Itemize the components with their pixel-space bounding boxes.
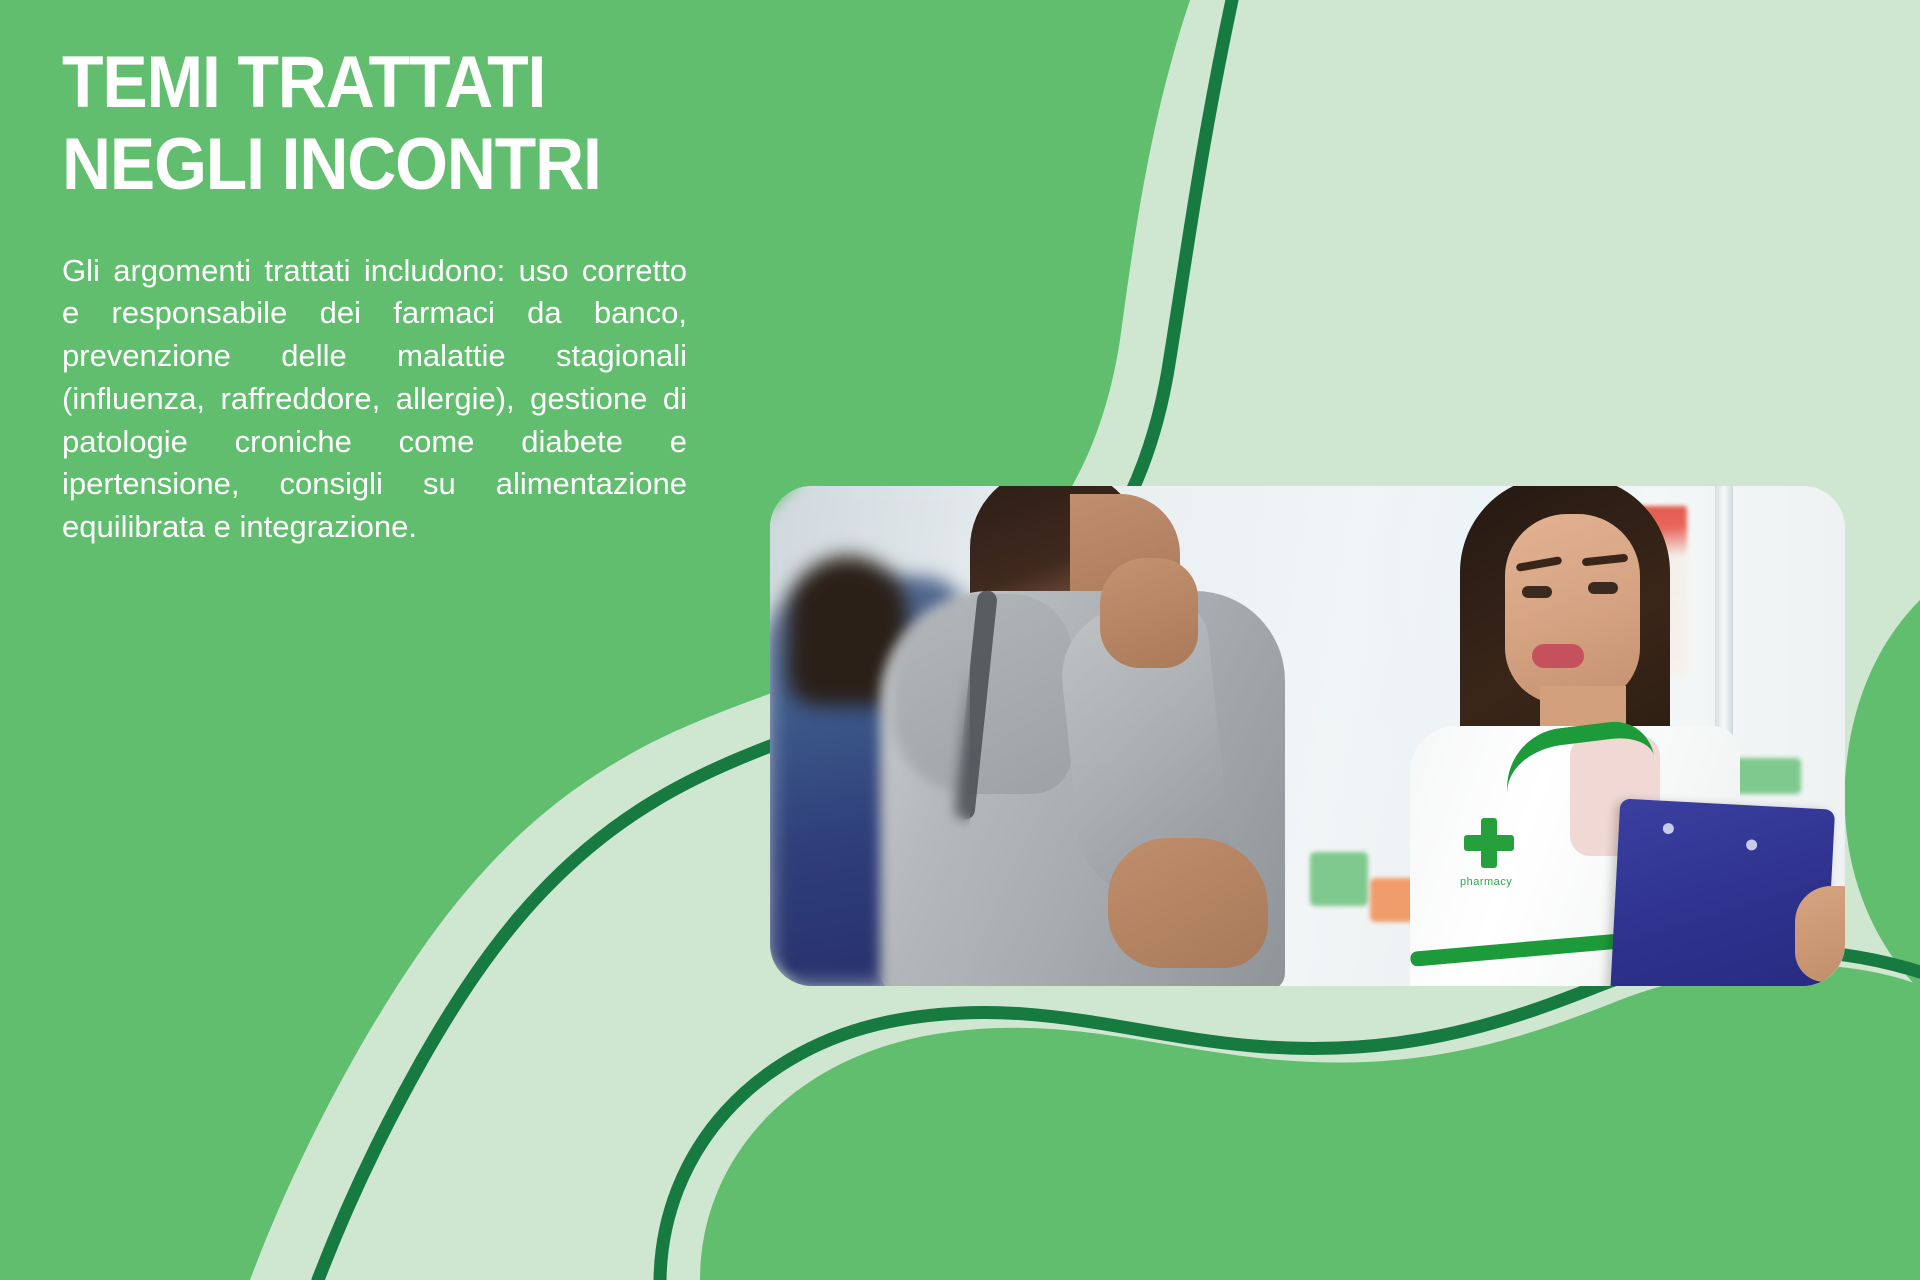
- photo-scene: pharmacy: [770, 486, 1845, 986]
- body-paragraph: Gli argomenti trattati includono: uso co…: [62, 206, 687, 549]
- pharmacist-eye: [1522, 586, 1552, 598]
- page-title: TEMI TRATTATI NEGLI INCONTRI: [62, 42, 657, 206]
- shelf-product-box: [1310, 852, 1368, 906]
- pharmacist-eye: [1588, 582, 1618, 594]
- coat-badge-label: pharmacy: [1460, 876, 1512, 888]
- pharmacist-mouth: [1532, 644, 1584, 668]
- customer-hand-at-neck: [1100, 558, 1198, 668]
- pharmacy-cross-icon: [1464, 818, 1514, 868]
- slide-canvas: TEMI TRATTATI NEGLI INCONTRI Gli argomen…: [0, 0, 1920, 1280]
- photo-left-blur-veil: [770, 486, 970, 986]
- pharmacist-face: [1505, 514, 1640, 704]
- text-column: TEMI TRATTATI NEGLI INCONTRI Gli argomen…: [62, 42, 702, 549]
- customer-gesturing-hand: [1108, 838, 1268, 968]
- pharmacy-photo: pharmacy: [770, 486, 1845, 986]
- pharmacist-hand: [1795, 886, 1845, 982]
